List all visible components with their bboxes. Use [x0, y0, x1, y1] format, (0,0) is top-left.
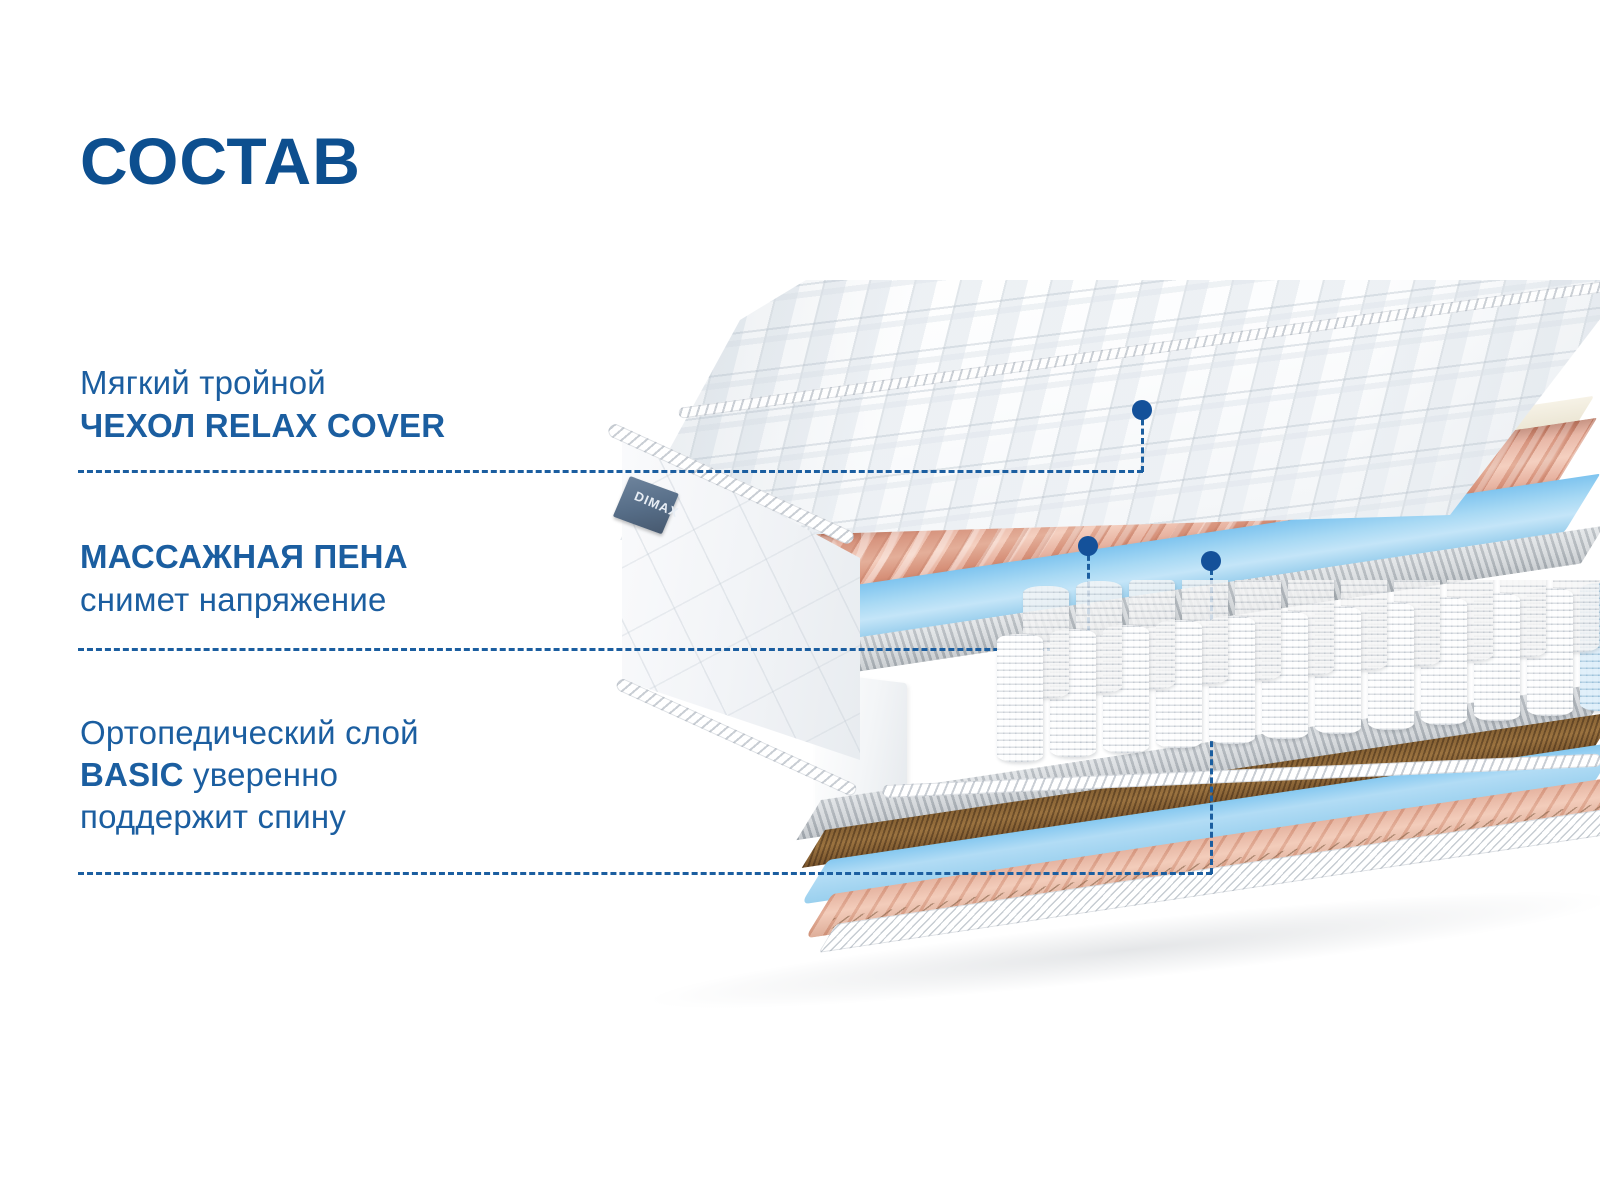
- callout-foam-line2: снимет напряжение: [80, 579, 408, 621]
- pocket-spring: [997, 634, 1043, 762]
- callout-foam-line1: МАССАЖНАЯ ПЕНА: [80, 535, 408, 579]
- callout-massage-foam: МАССАЖНАЯ ПЕНА снимет напряжение: [80, 535, 408, 621]
- composition-infographic: СОСТАВ DIMAX Мягкий тройной: [0, 0, 1600, 1200]
- callout-cover-line1: Мягкий тройной: [80, 362, 445, 404]
- callout-cover-line2: ЧЕХОЛ RELAX COVER: [80, 404, 445, 448]
- leader-dot-foam: [1078, 536, 1098, 556]
- callout-basic-line3: поддержит спину: [80, 796, 419, 838]
- leader-dot-cover: [1132, 400, 1152, 420]
- callout-basic-bold-word: BASIC: [80, 756, 184, 793]
- leader-line-foam-horizontal: [78, 648, 1089, 651]
- leader-line-cover-horizontal: [78, 470, 1143, 473]
- callout-basic-line2-rest: уверенно: [184, 756, 339, 793]
- leader-dot-basic: [1201, 551, 1221, 571]
- mattress-cutaway-illustration: DIMAX: [560, 280, 1600, 960]
- page-title: СОСТАВ: [80, 128, 361, 194]
- callout-relax-cover: Мягкий тройной ЧЕХОЛ RELAX COVER: [80, 362, 445, 448]
- callout-basic-line2: BASIC уверенно: [80, 754, 419, 796]
- callout-basic-line1: Ортопедический слой: [80, 712, 419, 754]
- leader-line-basic-horizontal: [78, 872, 1212, 875]
- callout-basic-layer: Ортопедический слой BASIC уверенно подде…: [80, 712, 419, 838]
